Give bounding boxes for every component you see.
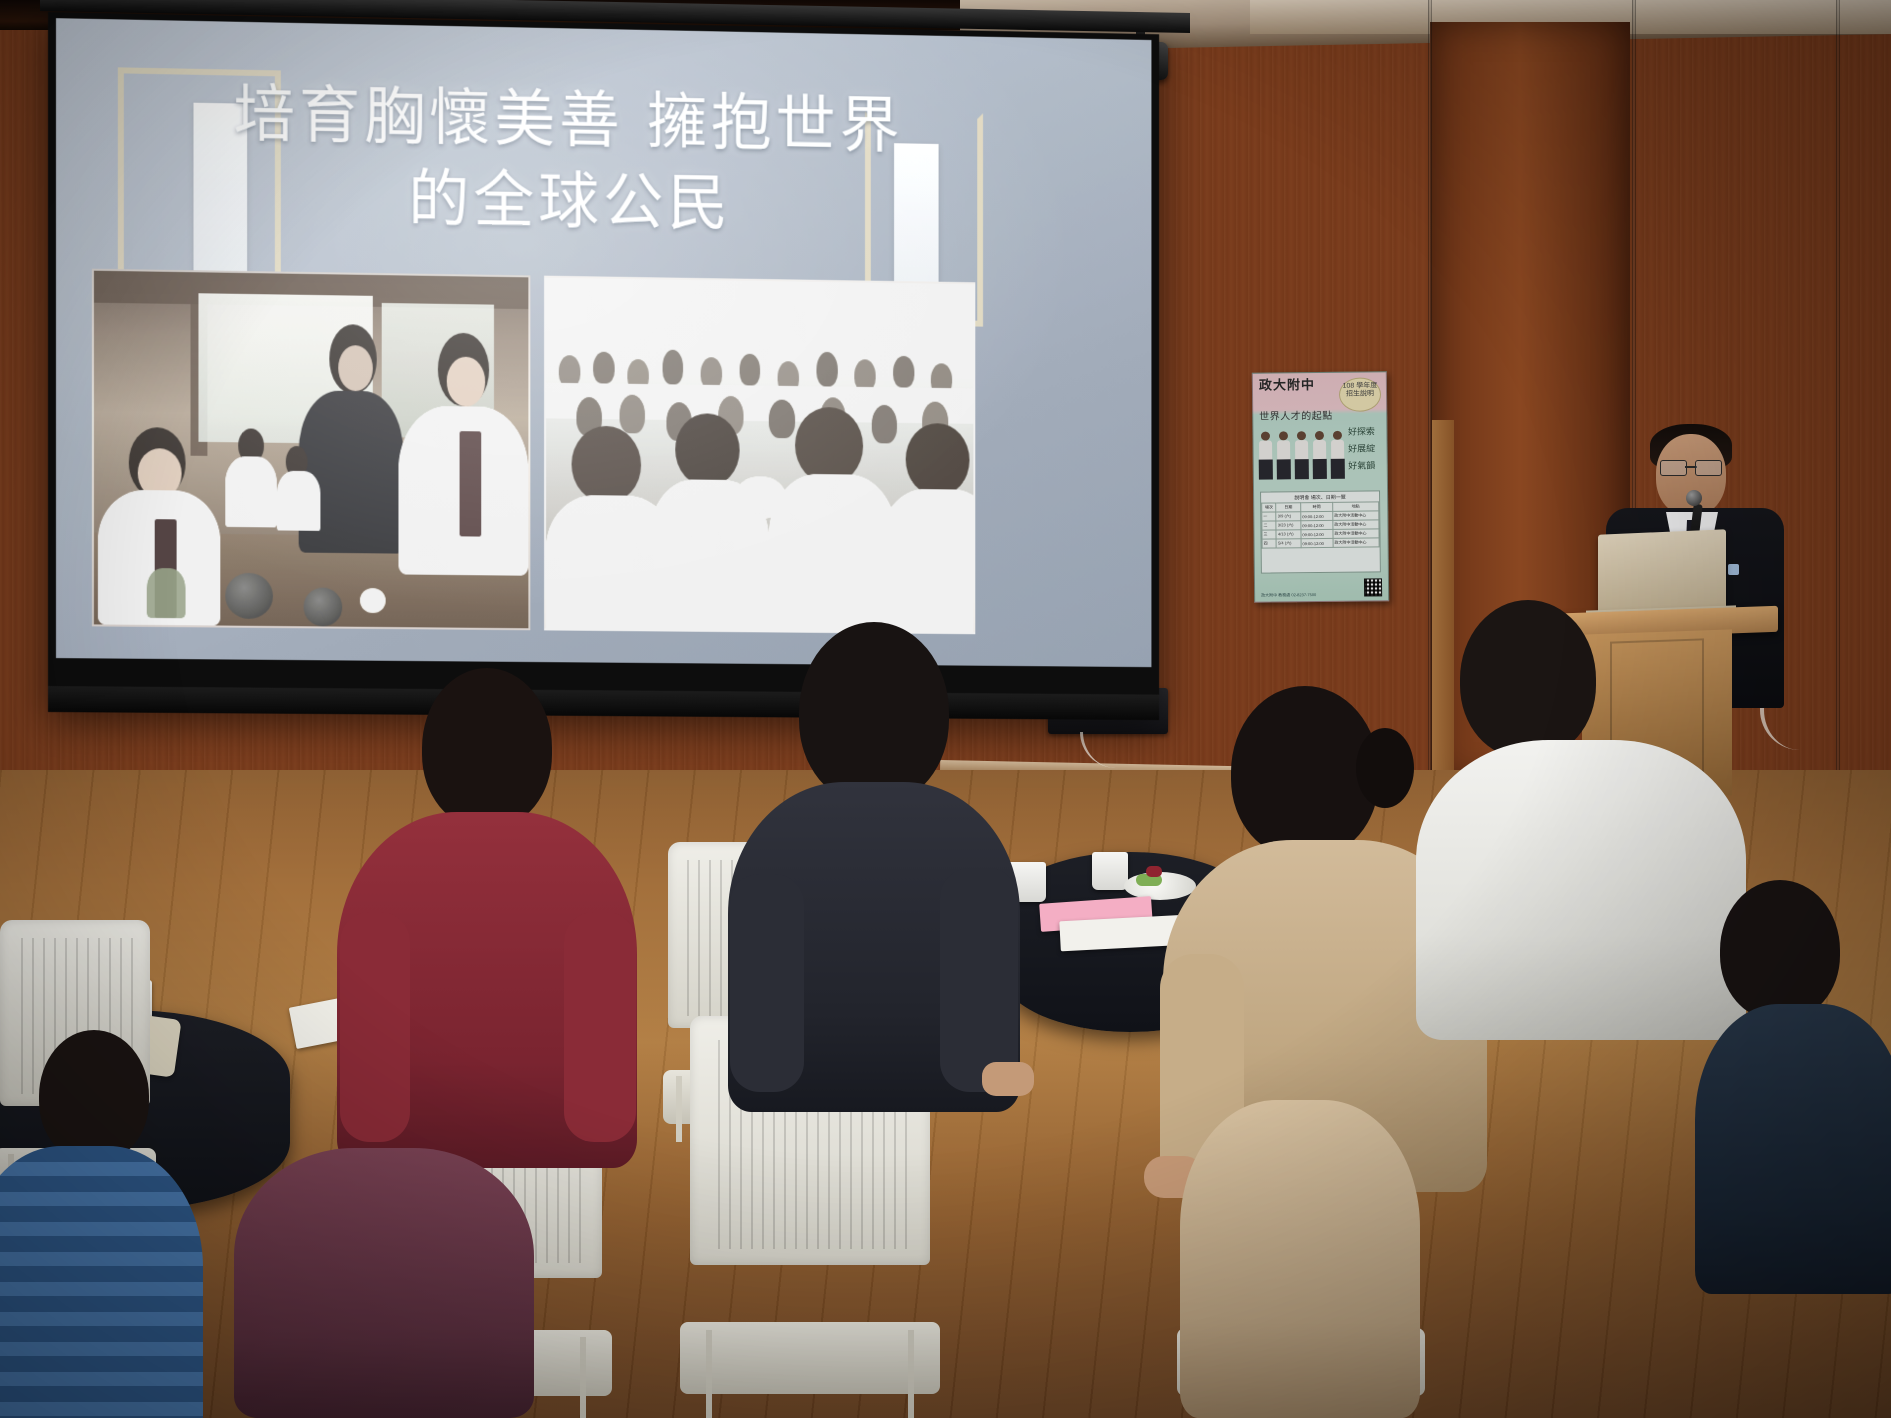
cell: 政大附中活動中心 [1333, 511, 1379, 520]
attendee-pink-top [234, 1148, 534, 1418]
poster-tagline: 世界人才的起點 [1259, 407, 1347, 423]
attendee-hair [1720, 880, 1840, 1020]
cell: 一 [1262, 512, 1277, 521]
cell: 5/4 (六) [1277, 539, 1302, 548]
cell: 3/9 (六) [1276, 512, 1301, 521]
attendee-hand [982, 1062, 1034, 1096]
cell: 09:00-12:00 [1301, 520, 1333, 529]
poster-point-2: 好展綻 [1342, 441, 1382, 459]
wall-poster: 政大附中 108 學年度 招生說明 世界人才的起點 好探索 好展綻 好氣韻 說明… [1252, 371, 1389, 602]
attendee-striped-top [0, 1146, 203, 1418]
attendee-hair [39, 1030, 149, 1162]
cell: 4/13 (六) [1276, 530, 1301, 539]
slide-photo-assembly [544, 276, 975, 635]
attendee-lower-body [1180, 1100, 1420, 1418]
slide-title: 培育胸懷美善 擁抱世界 的全球公民 [205, 73, 930, 248]
table-row: 四 5/4 (六) 09:00-12:00 政大附中活動中心 [1262, 538, 1379, 548]
attendee-hair [799, 622, 949, 804]
poster-points: 好探索 好展綻 好氣韻 [1341, 424, 1382, 476]
cell: 政大附中活動中心 [1333, 538, 1379, 547]
poster-contact: 政大附中 教務處 02-8237-7500 [1261, 592, 1316, 599]
attendee-arm-left [730, 874, 804, 1092]
attendee-shirt [1695, 1004, 1891, 1294]
cell: 三 [1262, 530, 1277, 539]
attendee-arm-left [340, 912, 410, 1142]
poster-school-name: 政大附中 [1259, 379, 1335, 393]
speaker-lapel-badge [1728, 564, 1739, 575]
attendee-white-polo [1416, 600, 1746, 1030]
cell: 09:00-12:00 [1301, 529, 1333, 538]
poster-point-3: 好氣韻 [1342, 459, 1382, 477]
qr-code-icon [1364, 578, 1382, 596]
poster-th-1: 日期 [1276, 503, 1301, 512]
cell: 3/23 (六) [1276, 521, 1301, 530]
attendee-lower-body [234, 1148, 534, 1418]
slide-photo-tea-ceremony [92, 269, 530, 631]
attendee-red-sweater [332, 662, 642, 1162]
poster-badge-sub: 招生說明 [1340, 390, 1380, 398]
microphone-icon [1686, 490, 1702, 506]
poster-th-3: 地點 [1333, 502, 1379, 511]
poster-th-2: 時間 [1301, 502, 1333, 511]
cell: 09:00-12:00 [1301, 538, 1333, 547]
paper-cup-2[interactable] [1092, 852, 1128, 890]
slide-photo-row [92, 269, 975, 635]
poster-student-figures [1258, 431, 1345, 488]
attendee-striped-shirt [0, 1030, 200, 1418]
presentation-hall-scene: 培育胸懷美善 擁抱世界 的全球公民 [0, 0, 1891, 1418]
cell: 政大附中活動中心 [1333, 520, 1379, 529]
attendee-polo [1416, 740, 1746, 1040]
cell: 二 [1262, 521, 1277, 530]
poster-schedule-table: 說明會 場次、日期一覽 場次 日期 時間 地點 一 3/9 (六) 09:00-… [1260, 490, 1381, 573]
attendee-hair [1460, 600, 1596, 758]
poster-th-0: 場次 [1262, 503, 1277, 512]
poster-point-1: 好探索 [1341, 424, 1381, 442]
cell: 09:00-12:00 [1301, 511, 1333, 520]
poster-badge-year: 108 學年度 [1340, 382, 1380, 390]
attendee-arm-right [564, 912, 636, 1142]
attendee-hair [422, 668, 552, 828]
cell: 政大附中活動中心 [1333, 529, 1379, 538]
attendee-ponytail [1356, 728, 1414, 808]
attendee-arm-right [940, 868, 1018, 1092]
attendee-navy-shirt [1700, 880, 1891, 1280]
attendee-front-right-lower [1180, 1100, 1420, 1418]
attendee-dark-top [724, 614, 1024, 1084]
presentation-slide: 培育胸懷美善 擁抱世界 的全球公民 [56, 18, 1151, 667]
glasses-icon [1660, 460, 1722, 475]
cell: 四 [1262, 539, 1277, 548]
